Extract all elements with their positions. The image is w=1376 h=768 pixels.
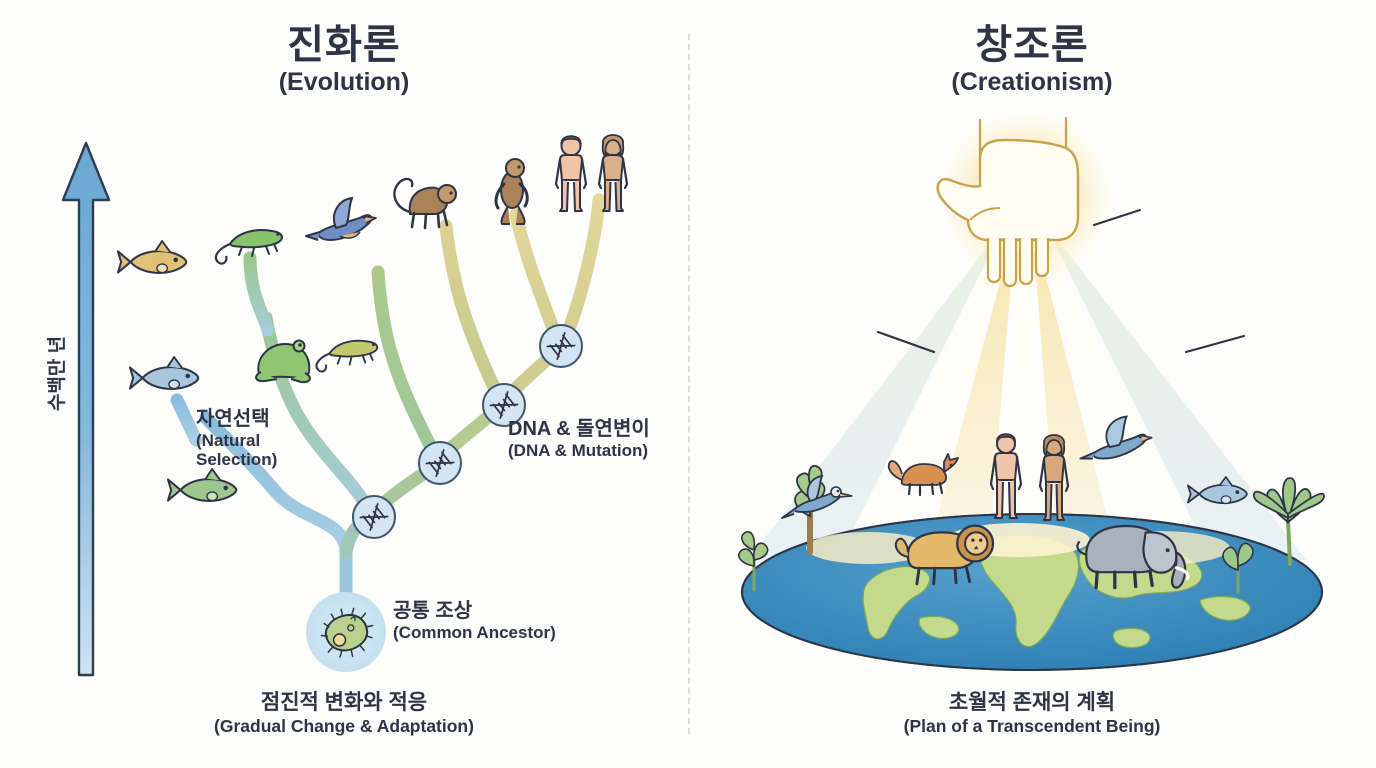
infographic-root: 진화론 (Evolution): [0, 0, 1376, 768]
time-arrow-icon: [63, 143, 109, 675]
frog-icon: [256, 341, 310, 383]
bird-icon: [306, 198, 376, 240]
natural-selection-ko: 자연선택: [196, 408, 277, 431]
common-ancestor-ko: 공통 조상: [393, 600, 556, 623]
label-natural-selection: 자연선택 (Natural Selection): [196, 408, 277, 470]
creationism-caption-ko: 초월적 존재의 계획: [688, 690, 1376, 716]
natural-selection-en-2: Selection): [196, 450, 277, 469]
evolution-graphics: [0, 0, 688, 768]
creationism-caption: 초월적 존재의 계획 (Plan of a Transcendent Being…: [688, 690, 1376, 738]
time-axis-label: 수백만 년: [42, 336, 69, 411]
fish-icon: [118, 241, 186, 273]
panel-evolution: 진화론 (Evolution): [0, 0, 688, 768]
dna-mutation-en: (DNA & Mutation): [508, 441, 650, 460]
dna-mutation-ko: DNA & 돌연변이: [508, 418, 650, 441]
dna-node-icon: [353, 496, 395, 538]
microbe-icon: [306, 592, 386, 672]
lizard-icon: [316, 341, 377, 372]
evolution-caption-en: (Gradual Change & Adaptation): [0, 716, 688, 738]
label-dna-mutation: DNA & 돌연변이 (DNA & Mutation): [508, 418, 650, 460]
fish-icon: [168, 469, 236, 501]
evolution-caption-ko: 점진적 변화와 적응: [0, 690, 688, 716]
monkey-icon: [394, 179, 456, 228]
fish-icon: [130, 357, 198, 389]
natural-selection-en-1: (Natural: [196, 431, 277, 450]
creationism-caption-en: (Plan of a Transcendent Being): [688, 716, 1376, 738]
dna-node-icon: [540, 325, 582, 367]
common-ancestor-en: (Common Ancestor): [393, 623, 556, 642]
hand-of-god-icon: [936, 106, 1116, 286]
earth-dome-icon: [742, 514, 1322, 670]
label-common-ancestor: 공통 조상 (Common Ancestor): [393, 600, 556, 642]
panel-creationism: 창조론 (Creationism): [688, 0, 1376, 768]
dna-node-icon: [419, 442, 461, 484]
creationism-graphics: [688, 0, 1376, 768]
evolution-caption: 점진적 변화와 적응 (Gradual Change & Adaptation): [0, 690, 688, 738]
